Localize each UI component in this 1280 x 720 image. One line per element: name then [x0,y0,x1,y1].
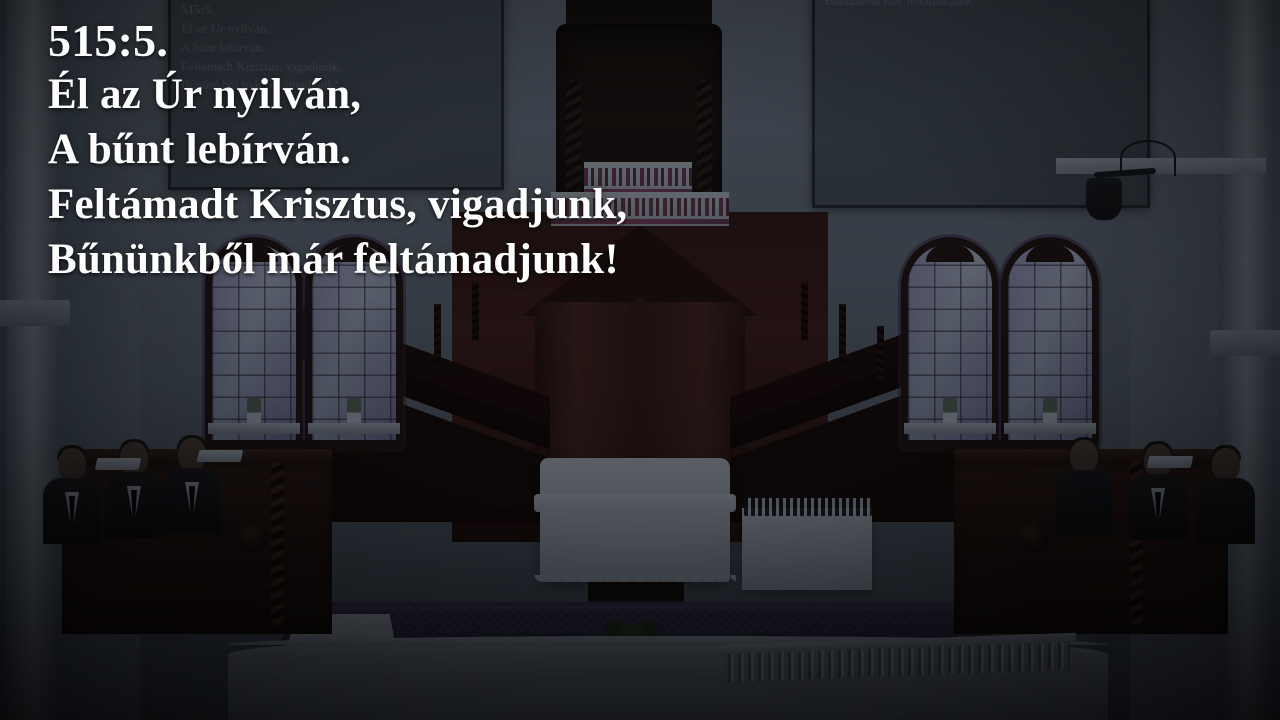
hymn-line-2: A bűnt lebírván. [48,122,627,177]
hymn-line-3: Feltámadt Krisztus, vigadjunk, [48,177,627,232]
hymn-line-1: Él az Úr nyilván, [48,67,627,122]
livestream-frame: 515:5. Él az Úr nyilván, A bűnt lebírván… [0,0,1280,720]
hymn-lyrics-overlay: 515:5. Él az Úr nyilván, A bűnt lebírván… [48,18,627,287]
hymn-reference: 515:5. [48,18,627,65]
hymn-line-4: Bűnünkből már feltámadjunk! [48,232,627,287]
